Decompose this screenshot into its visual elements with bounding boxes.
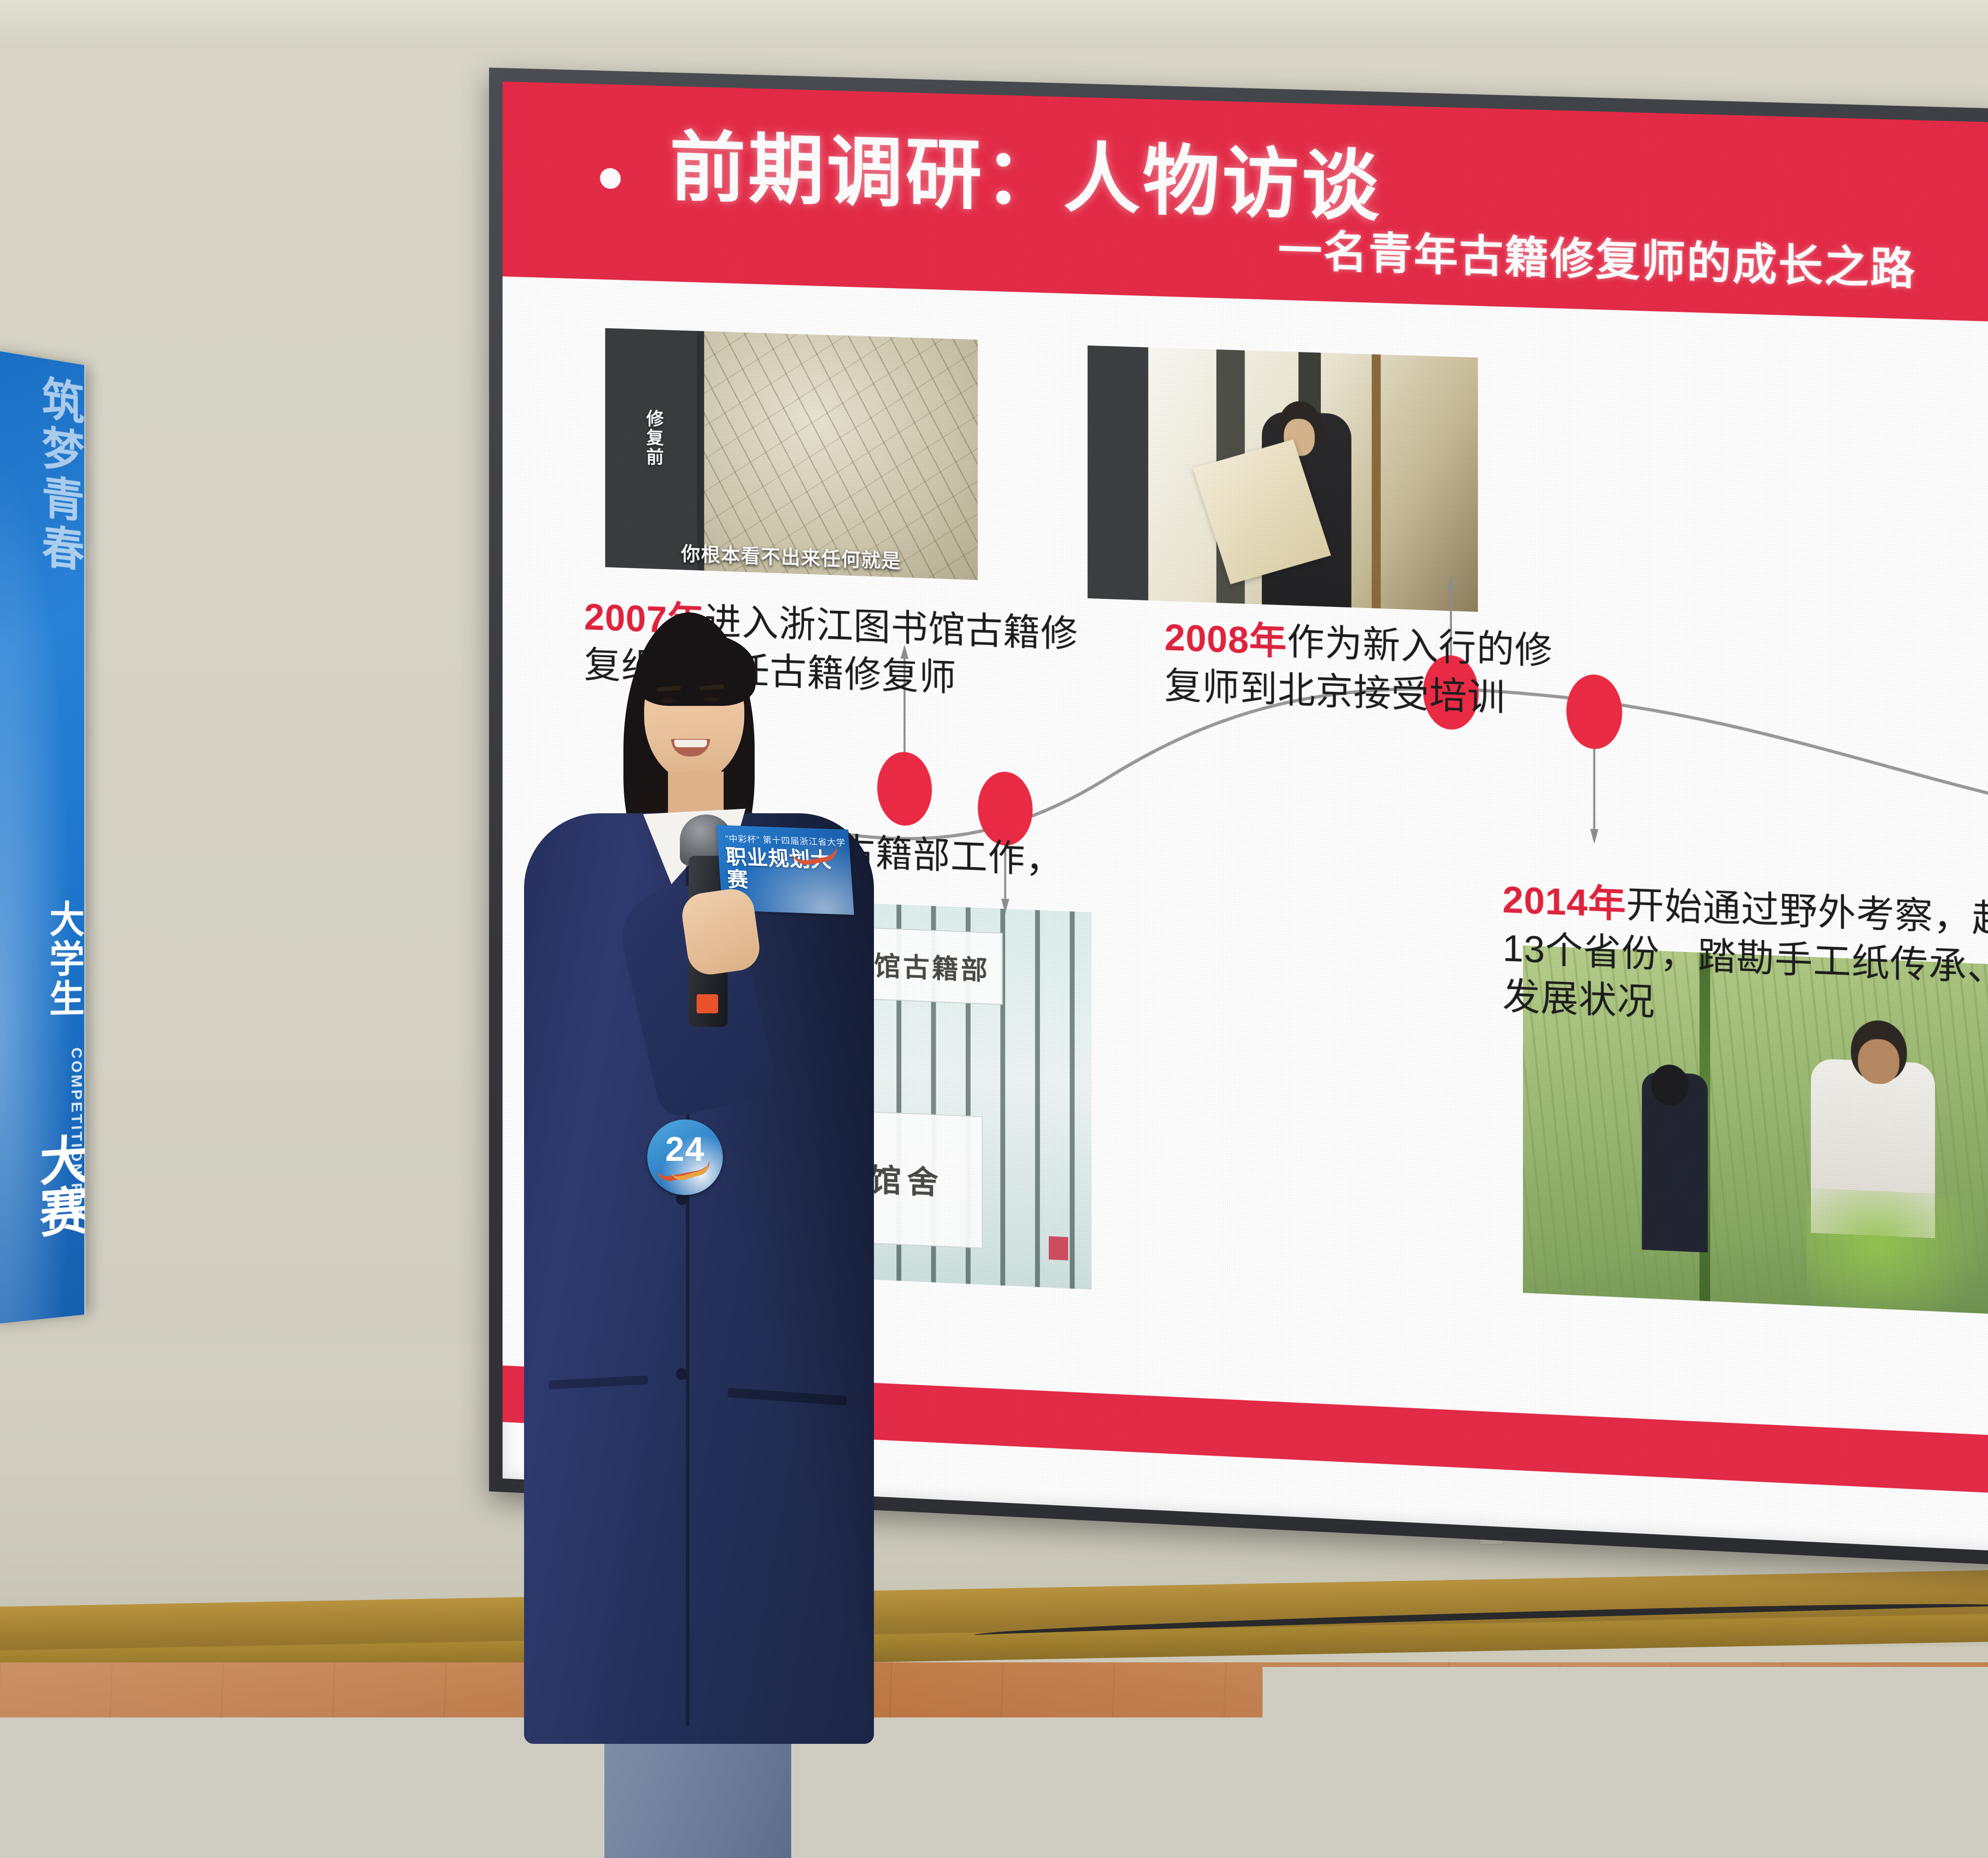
slide-title: 前期调研：人物访谈 [670,129,1382,226]
leader-arrow-4 [1590,829,1598,844]
timeline-entry-2014: 2014年开始通过野外考察，赴13个省份，踏勘手工纸传承、发展状况 [1503,876,1988,1042]
timeline-entry-2008: 2008年作为新入行的修复师到北京接受培训 [1165,614,1576,725]
photo5-foreground-leaf [1807,1188,1985,1314]
microphone-indicator [697,994,718,1013]
photo4-red-seal [1049,1236,1068,1261]
photo2-rod [1372,354,1381,608]
ceiling-trim [0,0,1988,48]
presenter-eye-right [704,697,719,702]
presenter-hand [679,886,763,977]
slide-subtitle: 一名青年古籍修复师的成长之路 [1278,216,1916,297]
banner-edge [84,365,85,1314]
photo-manuscript-before-restoration: 修复前 你根本看不出来任何就是 [605,328,978,580]
timeline-year-2014: 2014年 [1503,879,1626,925]
presenter-teeth [674,740,707,747]
banner-top-text: 筑梦青春 [8,368,82,575]
photo5-person-right-face [1858,1038,1899,1085]
banner-mid-text: 大学生 [6,899,83,1020]
bullet-dot-icon [600,168,621,189]
photo-restorer-holding-paper [1087,346,1478,612]
banner-big-text: 大赛 [0,1132,85,1242]
presenter: 24 "中彩杯" 第十四届浙江省大学生 职业规划大赛 [505,612,903,1858]
presenter-hair-front [636,632,755,706]
photo1-vertical-caption: 修复前 [640,409,666,467]
floor-reflection [0,1662,1988,1858]
presenter-coat-button-3 [676,1368,688,1380]
photo2-dark-bar-1 [1087,346,1148,601]
timeline-year-2008: 2008年 [1165,617,1287,663]
event-rollup-banner: 筑梦青春 大学生 COMPETITION FOR 大赛 [0,350,85,1324]
contestant-number-badge: 24 [647,1119,723,1195]
presenter-eye-left [661,698,676,703]
